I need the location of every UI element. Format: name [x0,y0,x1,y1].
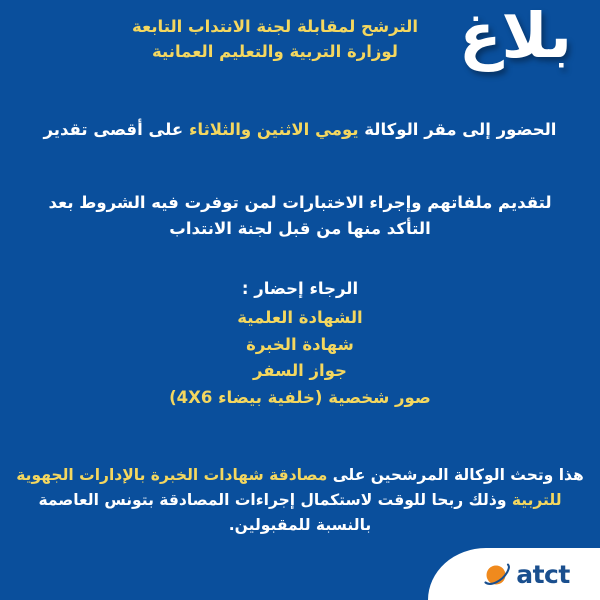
documents-title: الرجاء إحضار : [14,277,586,302]
attendance-part-1: الحضور إلى مقر الوكالة [359,120,557,139]
poster-header: بلاغ الترشح لمقابلة لجنة الانتداب التابع… [0,0,600,100]
files-line-1: لتقديم ملفاتهم وإجراء الاختبارات لمن توف… [14,190,586,216]
balagh-stamp: بلاغ [443,2,588,70]
list-item: الشهادة العلمية [14,305,586,332]
list-item: جواز السفر [14,358,586,385]
headline-line-2: لوزارة التربية والتعليم العمانية [110,39,440,64]
files-line-2: التأكد منها من قبل لجنة الانتداب [14,216,586,242]
list-item: شهادة الخبرة [14,332,586,359]
headline: الترشح لمقابلة لجنة الانتداب التابعة لوز… [110,14,440,64]
files-statement: لتقديم ملفاتهم وإجراء الاختبارات لمن توف… [14,190,586,243]
closing-note: هذا وتحث الوكالة المرشحين على مصادقة شها… [14,463,586,538]
attendance-days-highlight: يومي الاثنين والثلاثاء [189,120,359,139]
note-segment-1: هذا وتحث الوكالة المرشحين على [327,466,583,484]
attendance-statement: الحضور إلى مقر الوكالة يومي الاثنين والث… [14,118,586,143]
orange-globe-icon [484,562,511,587]
headline-line-1: الترشح لمقابلة لجنة الانتداب التابعة [110,14,440,39]
documents-list: الشهادة العلمية شهادة الخبرة جواز السفر … [14,305,586,412]
brand-name: atct [516,562,570,587]
attendance-part-2: على أقصى تقدير [44,120,189,139]
brand-logo: atct [428,548,600,600]
announcement-poster: بلاغ الترشح لمقابلة لجنة الانتداب التابع… [0,0,600,600]
list-item: صور شخصية (خلفية بيضاء 4X6) [14,385,586,412]
note-segment-3: وذلك ربحا للوقت لاستكمال إجراءات المصادق… [38,491,511,534]
